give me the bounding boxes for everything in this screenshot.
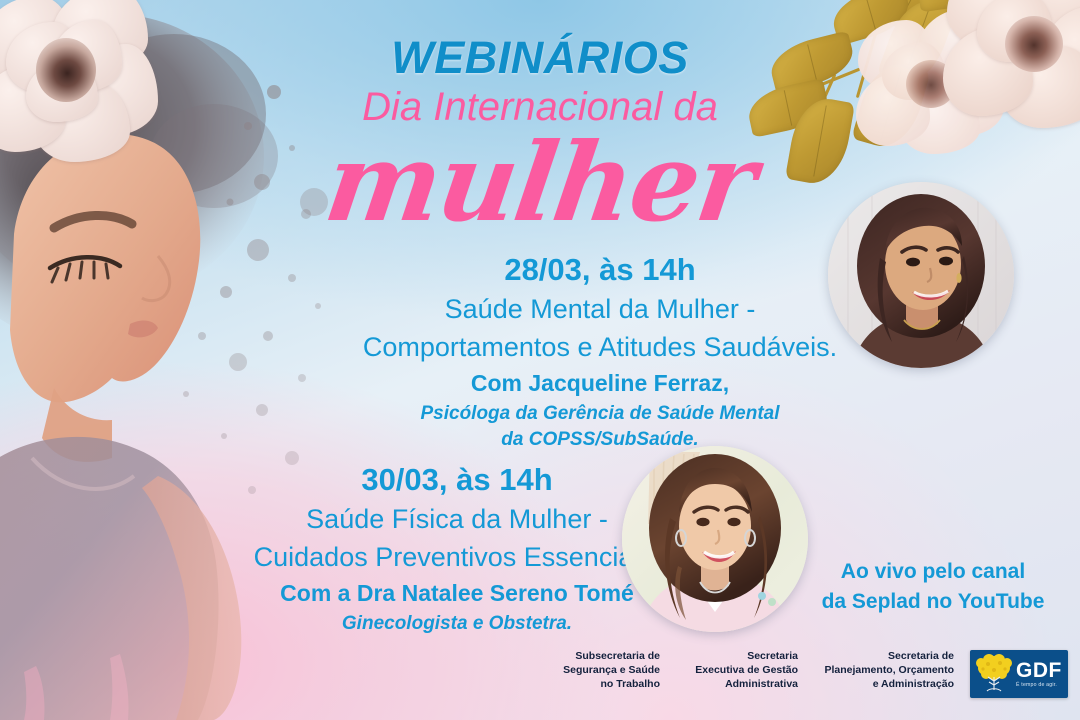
event-block-2: 30/03, às 14h Saúde Física da Mulher - C… xyxy=(232,460,682,637)
gdf-logo: GDF É tempo de agir. xyxy=(970,650,1068,698)
event-1-title-line-2: Comportamentos e Atitudes Saudáveis. xyxy=(360,328,840,366)
event-2-speaker: Com a Dra Natalee Sereno Tomé xyxy=(232,576,682,611)
footer: Subsecretaria de Segurança e Saúde no Tr… xyxy=(0,650,1080,712)
event-1-speaker: Com Jacqueline Ferraz, xyxy=(360,366,840,401)
footer-org-2-line-2: Executiva de Gestão xyxy=(668,664,798,678)
speaker-photo-natalee-sereno-tome xyxy=(622,446,808,632)
event-1-date: 28/03, às 14h xyxy=(360,250,840,290)
event-1-title-line-1: Saúde Mental da Mulher - xyxy=(360,290,840,328)
event-1-role-line-2: da COPSS/SubSaúde. xyxy=(360,427,840,453)
footer-org-2-line-3: Administrativa xyxy=(668,678,798,692)
gdf-tagline: É tempo de agir. xyxy=(1016,683,1062,688)
speaker-1-portrait xyxy=(828,182,1014,368)
event-2-date: 30/03, às 14h xyxy=(232,460,682,500)
event-1-role-line-1: Psicóloga da Gerência de Saúde Mental xyxy=(360,401,840,427)
footer-org-1-line-1: Subsecretaria de xyxy=(520,650,660,664)
live-line-1: Ao vivo pelo canal xyxy=(808,557,1058,587)
event-2-title-line-2: Cuidados Preventivos Essenciais. xyxy=(232,538,682,576)
footer-org-3-line-1: Secretaria de xyxy=(806,650,954,664)
speaker-2-portrait xyxy=(622,446,808,632)
page-title-kicker: WEBINÁRIOS xyxy=(0,32,1080,84)
footer-org-1-line-3: no Trabalho xyxy=(520,678,660,692)
footer-org-2-line-1: Secretaria xyxy=(668,650,798,664)
live-line-2: da Seplad no YouTube xyxy=(808,587,1058,617)
footer-org-2: Secretaria Executiva de Gestão Administr… xyxy=(668,650,798,692)
live-channel-note: Ao vivo pelo canal da Seplad no YouTube xyxy=(808,557,1058,617)
event-block-1: 28/03, às 14h Saúde Mental da Mulher - C… xyxy=(360,250,840,453)
gdf-wordmark: GDF xyxy=(1016,660,1062,681)
footer-org-1-line-2: Segurança e Saúde xyxy=(520,664,660,678)
ipe-tree-icon xyxy=(975,654,1013,694)
event-2-title-line-1: Saúde Física da Mulher - xyxy=(232,500,682,538)
event-2-role-line-1: Ginecologista e Obstetra. xyxy=(232,611,682,637)
speaker-photo-jacqueline-ferraz xyxy=(828,182,1014,368)
footer-org-3: Secretaria de Planejamento, Orçamento e … xyxy=(806,650,954,692)
footer-org-3-line-3: e Administração xyxy=(806,678,954,692)
poster-canvas: WEBINÁRIOS Dia Internacional da mulher 2… xyxy=(0,0,1080,720)
footer-org-1: Subsecretaria de Segurança e Saúde no Tr… xyxy=(520,650,660,692)
footer-org-3-line-2: Planejamento, Orçamento xyxy=(806,664,954,678)
